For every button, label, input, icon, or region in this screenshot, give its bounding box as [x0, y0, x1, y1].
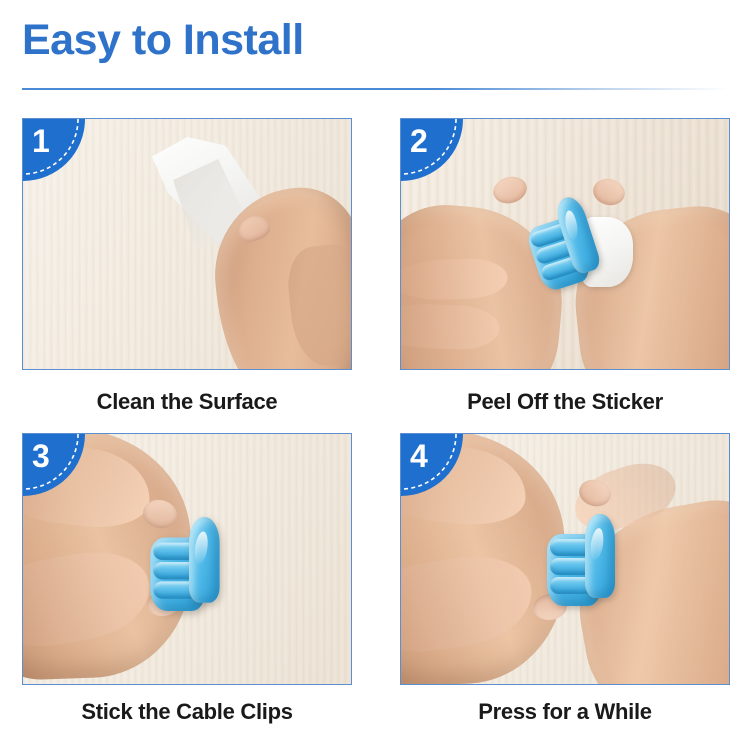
install-instructions-page: Easy to Install 1 — [0, 0, 750, 750]
left-hand-index-finger — [401, 257, 508, 301]
clip-thumb — [189, 517, 220, 603]
step-figure-2: 2 — [400, 118, 730, 370]
left-hand-nail — [490, 173, 530, 207]
step-caption-4: Press for a While — [400, 685, 730, 738]
left-hand-middle-finger — [401, 302, 500, 350]
thumbnail — [235, 212, 273, 245]
right-hand-nail — [590, 176, 627, 209]
step-number-3: 3 — [32, 440, 50, 472]
cable-clip — [547, 510, 621, 606]
steps-grid: 1 — [22, 118, 730, 738]
step-caption-2: Peel Off the Sticker — [400, 370, 730, 433]
step-caption-3: Stick the Cable Clips — [22, 685, 352, 738]
clip-thumb — [585, 514, 615, 598]
page-header: Easy to Install — [22, 18, 728, 63]
page-title: Easy to Install — [22, 18, 728, 63]
step-number-4: 4 — [410, 440, 428, 472]
title-divider — [22, 88, 728, 90]
hand-lower-finger — [23, 542, 157, 656]
step-figure-1: 1 — [22, 118, 352, 370]
left-hand-lower-finger — [401, 547, 538, 661]
step-caption-1: Clean the Surface — [22, 370, 352, 433]
cable-clip — [150, 513, 225, 611]
step-number-1: 1 — [32, 125, 50, 157]
step-number-2: 2 — [410, 125, 428, 157]
step-figure-4: 4 — [400, 433, 730, 685]
step-figure-3: 3 — [22, 433, 352, 685]
hand-knuckles — [284, 242, 351, 369]
